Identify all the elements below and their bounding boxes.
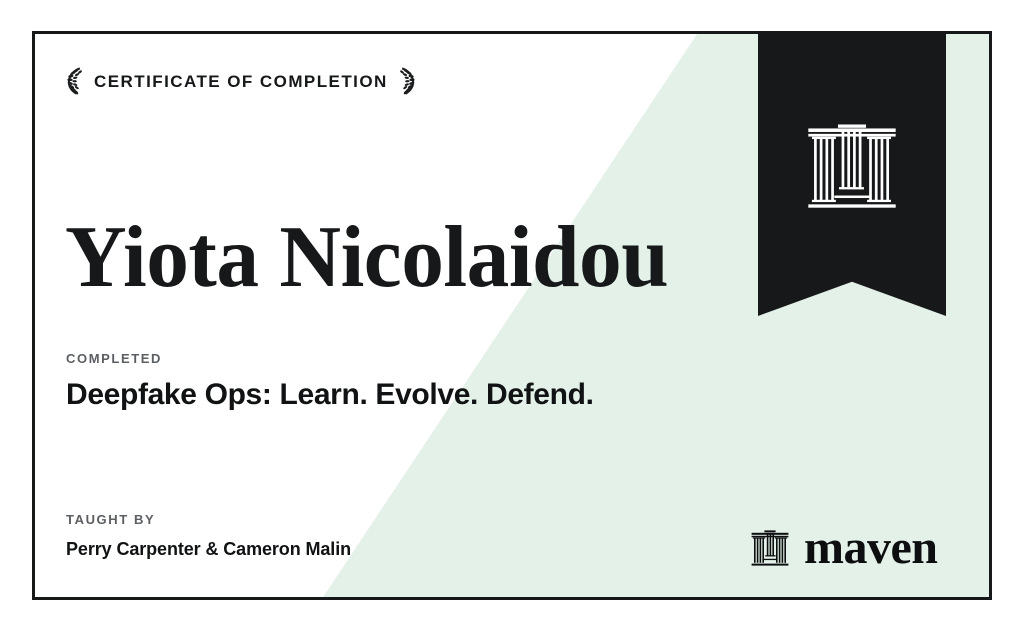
certificate-content: CERTIFICATE OF COMPLETION xyxy=(35,34,989,597)
page-title: CERTIFICATE OF COMPLETION xyxy=(94,73,388,90)
instruction-block: TAUGHT BY Perry Carpenter & Cameron Mali… xyxy=(66,513,351,560)
maven-columns-icon xyxy=(749,528,791,568)
instructor-names: Perry Carpenter & Cameron Malin xyxy=(66,539,351,560)
certificate-header: CERTIFICATE OF COMPLETION xyxy=(63,66,419,96)
course-title: Deepfake Ops: Learn. Evolve. Defend. xyxy=(66,378,594,412)
maven-logo: maven xyxy=(749,524,937,572)
certificate-frame: CERTIFICATE OF COMPLETION xyxy=(32,31,992,600)
completed-label: COMPLETED xyxy=(66,352,594,365)
laurel-branch-right-icon xyxy=(397,66,419,96)
laurel-branch-left-icon xyxy=(63,66,85,96)
certificate-page: CERTIFICATE OF COMPLETION xyxy=(0,0,1024,630)
recipient-name: Yiota Nicolaidou xyxy=(65,212,668,304)
maven-wordmark: maven xyxy=(804,524,937,572)
taught-by-label: TAUGHT BY xyxy=(66,513,351,526)
completion-block: COMPLETED Deepfake Ops: Learn. Evolve. D… xyxy=(66,352,594,412)
